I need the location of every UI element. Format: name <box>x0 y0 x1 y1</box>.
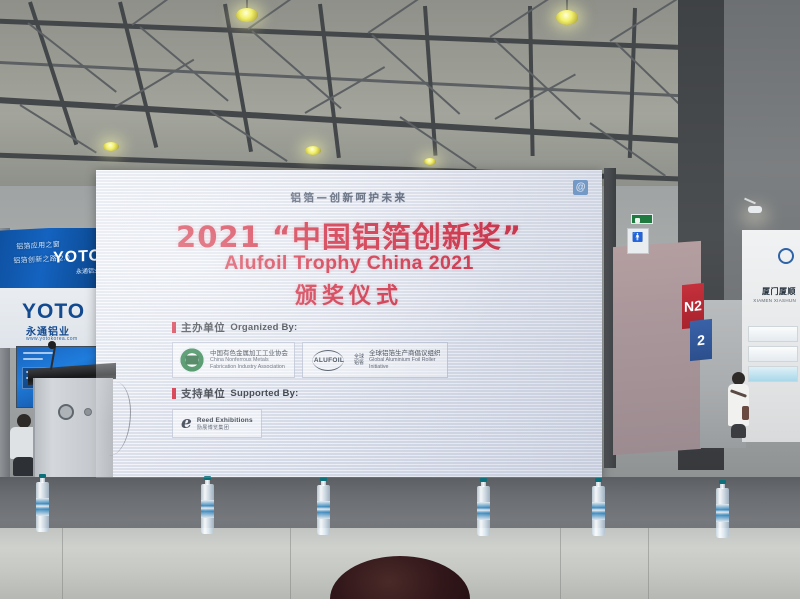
right-booth-subname: XIAMEN XIASHUN <box>753 298 796 303</box>
supporter-logo-reed: e Reed Exhibitions 励展博览集团 <box>172 409 262 438</box>
cnmia-seal-icon <box>179 347 205 373</box>
screen-subtitle-cn: 颁奖仪式 <box>96 278 602 310</box>
supported-by-label-cn: 支持单位 <box>181 386 225 401</box>
led-screen: @ 铝箔—创新呵护未来 2021 “中国铝箔创新奖” Alufoil Troph… <box>96 170 602 478</box>
booth-spotlight <box>748 206 762 213</box>
left-booth-banner: 铝箔应用之窗 铝箔创新之路 2.0 YOTO 永通铝业 <box>0 228 102 297</box>
water-bottle <box>716 480 729 538</box>
led-screen-frame: @ 铝箔—创新呵护未来 2021 “中国铝箔创新奖” Alufoil Troph… <box>96 170 602 478</box>
supported-by-label-en: Supported By: <box>230 388 298 399</box>
cnmia-name-cn: 中国有色金属加工工业协会 <box>210 349 288 357</box>
supported-by-section: 支持单位 Supported By: e Reed Exhibitions 励展… <box>172 386 298 438</box>
podium-knob <box>84 408 92 416</box>
restroom-sign-icon: 🚹 <box>627 228 649 254</box>
ceiling-lamp <box>305 146 321 155</box>
ceiling-lamp <box>236 8 258 22</box>
alufoil-wordmark: ALUFOIL <box>314 357 344 364</box>
hall-pink-partition <box>613 241 701 455</box>
alufoil-arc-icon: ALUFOIL <box>309 348 349 372</box>
led-screen-content: @ 铝箔—创新呵护未来 2021 “中国铝箔创新奖” Alufoil Troph… <box>96 170 602 478</box>
left-booth-brand-wall: YOTO <box>22 300 85 324</box>
cnmia-name-en-1: China Nonferrous Metals <box>210 357 288 364</box>
organizer-logo-cnmia: 中国有色金属加工工业协会 China Nonferrous Metals Fab… <box>172 342 295 378</box>
alufoil-name-en-2: Initiative <box>369 364 441 371</box>
right-booth-tile <box>748 366 798 382</box>
reed-e-icon: e <box>181 415 192 432</box>
right-booth-tile <box>748 346 798 362</box>
podium-emblem-icon <box>58 404 74 420</box>
ceiling-lamp <box>556 10 578 25</box>
screen-title-cn: 2021 “中国铝箔创新奖” <box>96 214 602 256</box>
screen-title-en: Alufoil Trophy China 2021 <box>96 252 602 275</box>
cnmia-name-en-2: Fabrication Industry Association <box>210 364 288 371</box>
alufoil-cn-badge: 全球铝箵 <box>354 354 364 366</box>
exit-sign-icon <box>631 214 653 224</box>
organizer-logo-row: 中国有色金属加工工业协会 China Nonferrous Metals Fab… <box>172 342 448 378</box>
red-bar-marker-icon <box>172 388 176 399</box>
gate-number-sign: 2 <box>690 319 712 361</box>
water-bottle <box>317 477 330 535</box>
reed-name-en: Reed Exhibitions <box>197 417 253 424</box>
supported-by-heading: 支持单位 Supported By: <box>172 386 298 401</box>
organized-by-label-cn: 主办单位 <box>181 320 225 335</box>
organized-by-heading: 主办单位 Organized By: <box>172 320 448 335</box>
red-bar-marker-icon <box>172 322 176 333</box>
exhibition-hall-scene: 🚹 N2 2 厦门厦顺 XIAMEN XIASHUN 铝箔应用之窗 铝箔创新之路… <box>0 0 800 599</box>
reed-name-cn: 励展博览集团 <box>197 424 253 431</box>
right-booth-name: 厦门厦顺 <box>762 286 796 297</box>
visitor-person <box>726 372 752 438</box>
water-bottle <box>201 476 214 534</box>
organizer-logo-alufoil: ALUFOIL 全球铝箵 全球铝箔生产商倡议组织 Global Aluminiu… <box>302 342 448 378</box>
organized-by-label-en: Organized By: <box>230 322 297 333</box>
alufoil-name-en-1: Global Aluminium Foil Roller <box>369 357 441 364</box>
right-booth-logo-icon <box>778 248 794 264</box>
ceiling-lamp <box>103 142 119 151</box>
restroom-glyph: 🚹 <box>632 232 642 243</box>
water-bottle <box>477 478 490 536</box>
water-bottle <box>592 478 605 536</box>
screen-tagline: 铝箔—创新呵护未来 <box>96 190 602 205</box>
ceiling-lamp <box>424 158 436 165</box>
organized-by-section: 主办单位 Organized By: 中国有色金属加工工业协会 China No… <box>172 320 448 378</box>
alufoil-name-cn: 全球铝箔生产商倡议组织 <box>369 349 441 357</box>
microphone-icon <box>48 341 56 349</box>
right-booth-tile <box>748 326 798 342</box>
water-bottle <box>36 474 49 532</box>
